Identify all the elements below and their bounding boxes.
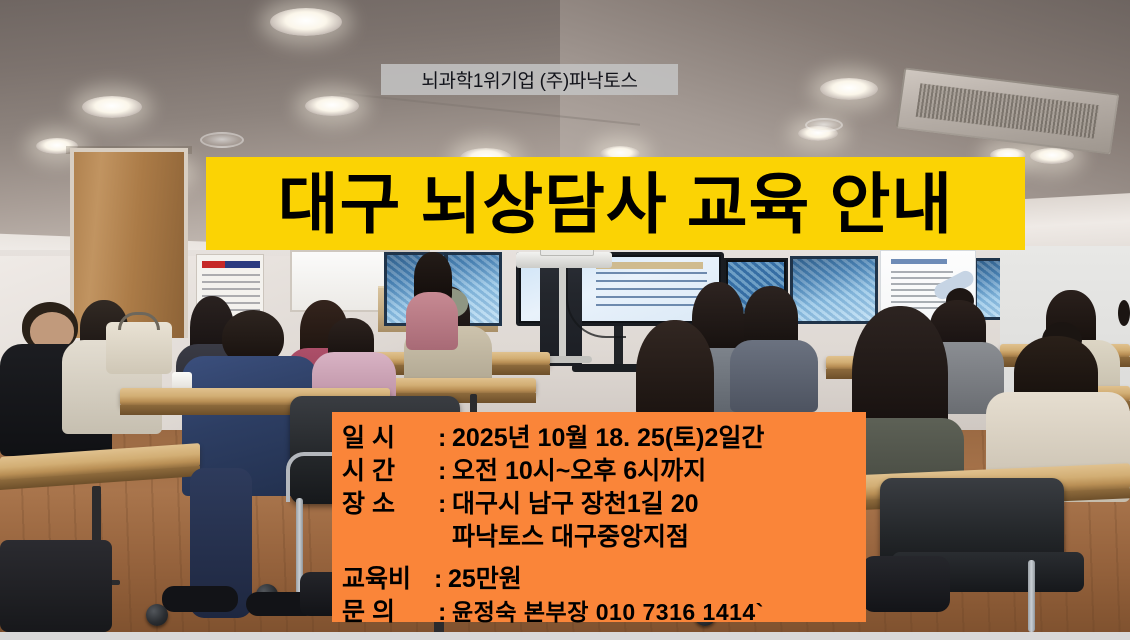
info-row-place-continued: 파낙토스 대구중앙지점 [332,517,866,550]
floor-bag [862,556,950,612]
info-colon: : [438,598,452,627]
ceiling-light [270,8,342,36]
info-value-date: 2025년 10월 18. 25(토)2일간 [452,418,764,454]
info-box: 일 시 : 2025년 10월 18. 25(토)2일간 시 간 : 오전 10… [332,412,866,622]
info-row-contact: 문 의 : 윤정숙 본부장 010 7316 1414` [332,592,866,625]
info-colon: : [438,457,452,486]
company-tagline-text: 뇌과학1위기업 (주)파낙토스 [421,66,637,93]
info-value-branch: 파낙토스 대구중앙지점 [448,517,689,553]
info-label-place: 장 소 [342,484,438,520]
ceiling-light-ring [805,118,843,132]
shoe [162,586,238,612]
attendee-legs [0,540,112,632]
attendee-hair-bun [1118,300,1130,326]
info-value-place: 대구시 남구 장천1길 20 [452,484,699,520]
bottom-border [0,632,1130,640]
ceiling-light [820,78,878,100]
chair-caster [146,604,168,626]
info-label-contact: 문 의 [342,592,438,628]
info-row-place: 장 소 : 대구시 남구 장천1길 20 [332,484,866,517]
chair-pole [1028,560,1035,632]
ceiling-light [305,96,359,116]
podium-pole [559,268,566,360]
ceiling-light-ring [200,132,244,148]
ceiling-light [82,96,142,118]
poster-root: 뇌과학1위기업 (주)파낙토스 대구 뇌상담사 교육 안내 일 시 : 2025… [0,0,1130,640]
info-colon: : [434,565,448,594]
title-banner: 대구 뇌상담사 교육 안내 [206,157,1025,250]
ac-grill [916,83,1100,138]
ceiling-light [1030,148,1074,164]
attendee-body [406,292,458,350]
info-colon: : [438,490,452,519]
poster-title-text: 대구 뇌상담사 교육 안내 [278,171,953,237]
info-label-time: 시 간 [342,451,438,487]
info-colon: : [438,424,452,453]
info-value-time: 오전 10시~오후 6시까지 [452,451,706,487]
info-value-contact: 윤정숙 본부장 010 7316 1414` [452,593,764,627]
info-row-date: 일 시 : 2025년 10월 18. 25(토)2일간 [332,418,866,451]
info-label-date: 일 시 [342,418,438,454]
window [790,256,878,324]
banner-heading [891,259,947,264]
company-tagline-banner: 뇌과학1위기업 (주)파낙토스 [381,64,678,95]
wall-poster-title-bar [202,261,260,268]
info-row-fee: 교육비 : 25만원 [332,559,866,592]
attendee-body [730,340,818,412]
info-value-fee: 25만원 [448,559,522,595]
info-label-fee: 교육비 [342,559,434,595]
info-row-time: 시 간 : 오전 10시~오후 6시까지 [332,451,866,484]
